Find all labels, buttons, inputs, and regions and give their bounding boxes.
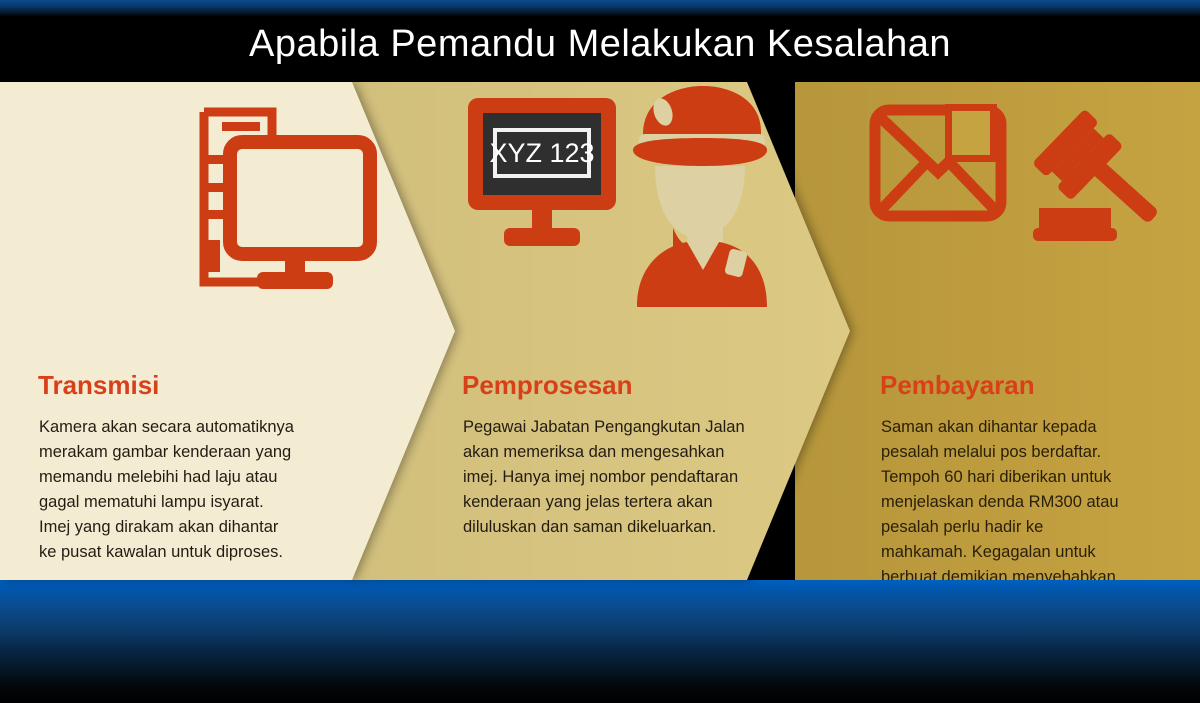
sound-block-icon	[1033, 208, 1117, 241]
step-body-transmisi: Kamera akan secara automatiknya merakam …	[39, 415, 384, 565]
monitor-icon	[230, 142, 370, 289]
step-heading-transmisi: Transmisi	[38, 370, 159, 401]
mail-icon-group	[867, 102, 1027, 307]
page-title: Apabila Pemandu Melakukan Kesalahan	[249, 23, 951, 66]
plate-monitor-icon-group: XYZ 123	[460, 94, 630, 299]
transmisi-icon-group	[160, 90, 390, 295]
step-heading-pembayaran: Pembayaran	[880, 370, 1035, 401]
step-panel-pembayaran: Pembayaran Saman akan dihantar kepada pe…	[795, 82, 1200, 580]
gavel-icon	[1025, 104, 1175, 244]
police-officer-icon	[615, 82, 790, 307]
step-body-pemprosesan: Pegawai Jabatan Pengangkutan Jalan akan …	[463, 415, 843, 540]
officer-icon-group	[615, 82, 790, 287]
gavel-icon-group	[1025, 104, 1175, 309]
envelope-mail-icon	[867, 102, 1027, 242]
bottom-accent-bar	[0, 580, 1200, 703]
step-panel-1-background: Transmisi Kamera akan secara automatikny…	[0, 82, 455, 580]
infographic-slide: Apabila Pemandu Melakukan Kesalahan	[0, 0, 1200, 703]
step-panel-3-background: Pembayaran Saman akan dihantar kepada pe…	[795, 82, 1200, 580]
license-plate-text: XYZ 123	[489, 138, 594, 168]
step-heading-pemprosesan: Pemprosesan	[462, 370, 633, 401]
monitor-license-plate-icon: XYZ 123	[460, 94, 630, 264]
step-panel-transmisi: Transmisi Kamera akan secara automatikny…	[0, 82, 455, 580]
document-monitor-icon	[160, 90, 390, 295]
title-band: Apabila Pemandu Melakukan Kesalahan	[0, 0, 1200, 82]
postage-stamp-icon	[945, 104, 997, 162]
steps-container: Transmisi Kamera akan secara automatikny…	[0, 82, 1200, 580]
